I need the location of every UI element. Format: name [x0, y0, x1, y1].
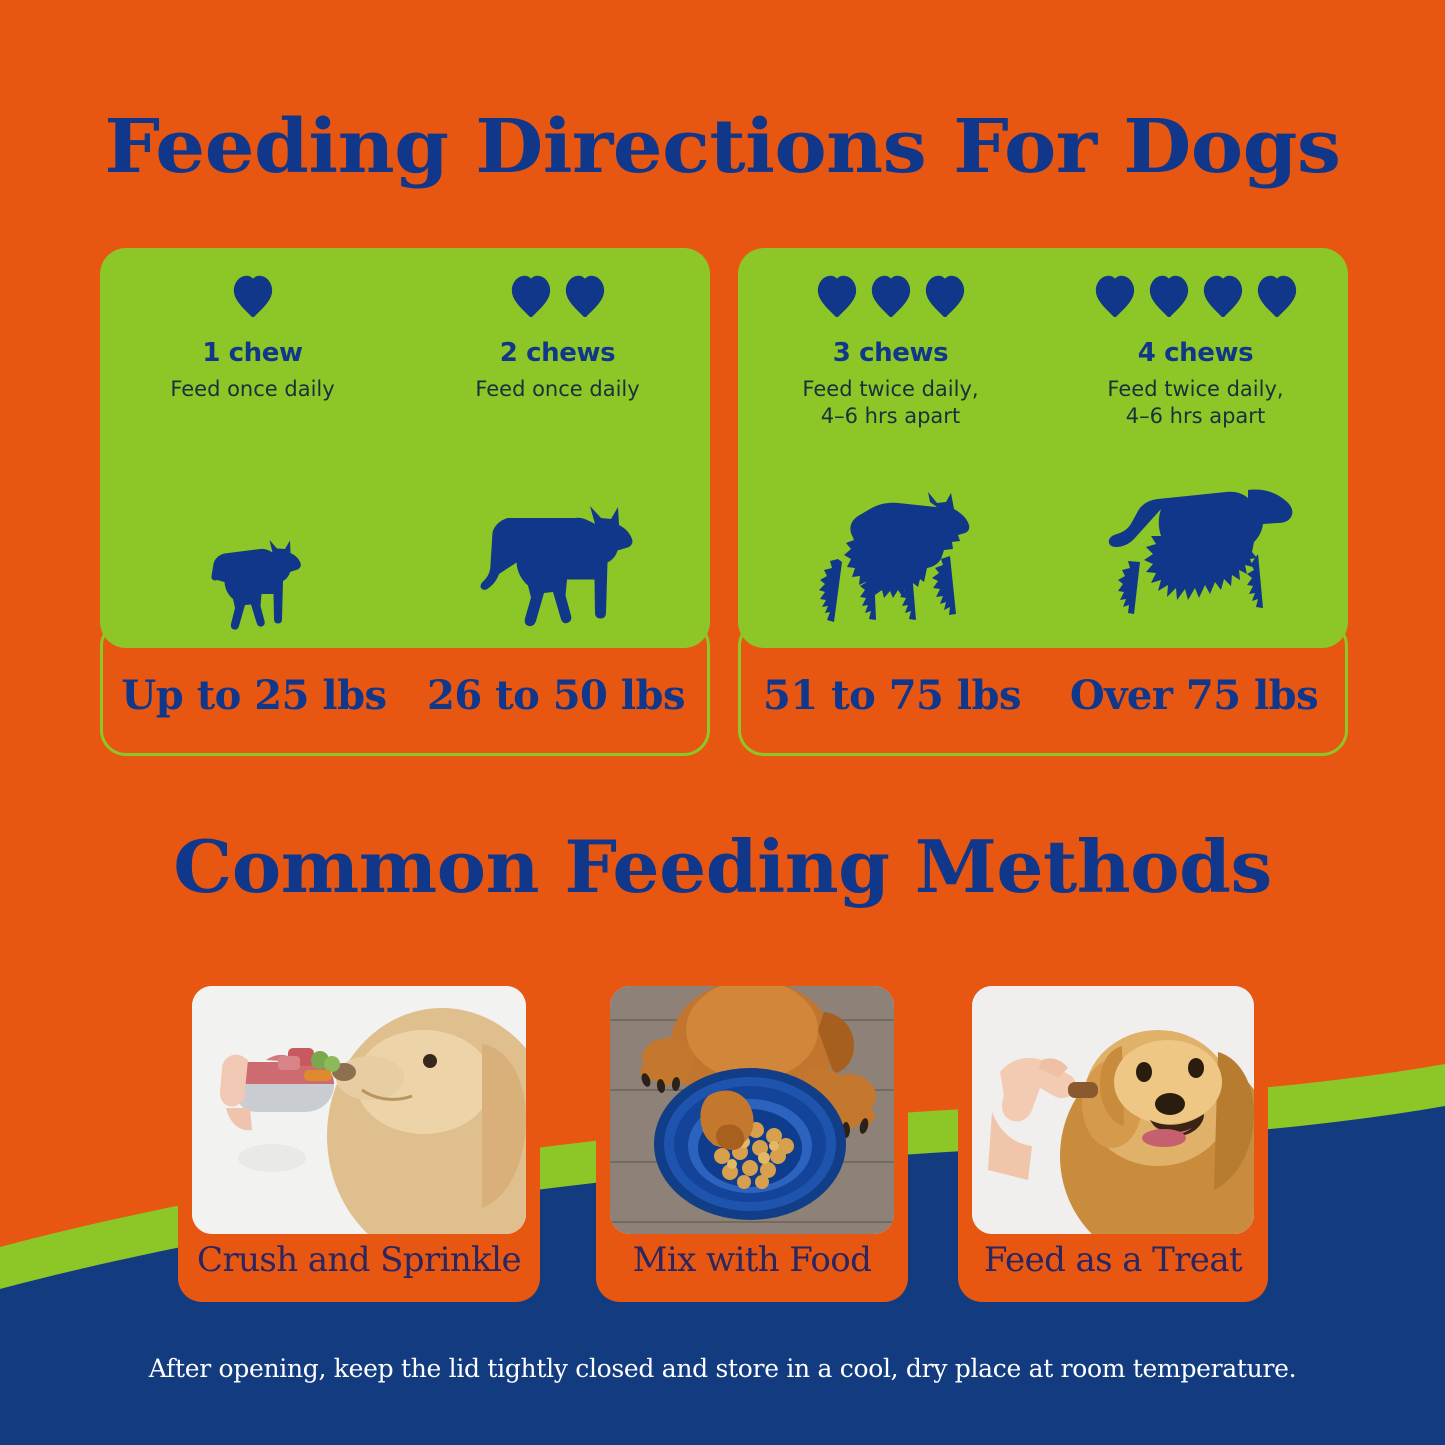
feeding-frequency-3: Feed twice daily, 4–6 hrs apart — [802, 376, 978, 430]
dosage-column-1-chew: 1 chew Feed once daily — [100, 248, 405, 648]
weight-label-26-to-50: 26 to 50 lbs — [405, 658, 707, 719]
chew-count-label-4: 4 chews — [1138, 338, 1253, 368]
dosage-column-4-chews: 4 chews Feed twice daily, 4–6 hrs apart — [1043, 248, 1348, 648]
hand-feeding-golden-retriever-treat-photo — [972, 986, 1254, 1234]
dog-illustration-wrap-3 — [802, 430, 980, 648]
method-label-mix-with-food: Mix with Food — [596, 1240, 908, 1280]
weight-label-51-to-75: 51 to 75 lbs — [741, 658, 1043, 719]
method-card-mix-with-food[interactable]: Mix with Food — [596, 972, 908, 1302]
dog-illustration-wrap-1 — [194, 403, 312, 648]
feeding-frequency-4: Feed twice daily, 4–6 hrs apart — [1107, 376, 1283, 430]
dosage-card-large: 51 to 75 lbs Over 75 lbs 3 chews Feed tw… — [738, 248, 1348, 756]
weight-label-up-to-25: Up to 25 lbs — [103, 658, 405, 719]
heart-rating-2 — [508, 274, 608, 326]
feeding-frequency-4-line2: 4–6 hrs apart — [1107, 403, 1283, 430]
dosage-column-3-chews: 3 chews Feed twice daily, 4–6 hrs apart — [738, 248, 1043, 648]
section-title-common-feeding-methods: Common Feeding Methods — [0, 824, 1445, 909]
heart-icon — [1200, 274, 1246, 318]
dog-illustration-wrap-2 — [475, 403, 641, 648]
feeding-frequency-4-line1: Feed twice daily, — [1107, 376, 1283, 403]
heart-icon — [562, 274, 608, 318]
heart-icon — [1146, 274, 1192, 318]
page-title-feeding-directions: Feeding Directions For Dogs — [0, 104, 1445, 190]
heart-icon — [922, 274, 968, 318]
method-card-crush-and-sprinkle[interactable]: Crush and Sprinkle — [178, 972, 540, 1302]
heart-icon — [230, 274, 276, 318]
heart-icon — [814, 274, 860, 318]
weight-label-over-75: Over 75 lbs — [1043, 658, 1345, 719]
feeding-directions-panel: Feeding Directions For Dogs Up to 25 lbs… — [0, 0, 1445, 1445]
heart-icon — [508, 274, 554, 318]
feeding-frequency-2: Feed once daily — [475, 376, 639, 403]
dosage-column-2-chews: 2 chews Feed once daily — [405, 248, 710, 648]
chew-count-label-2: 2 chews — [500, 338, 615, 368]
method-label-crush-and-sprinkle: Crush and Sprinkle — [178, 1240, 540, 1280]
heart-icon — [868, 274, 914, 318]
heart-rating-3 — [814, 274, 968, 326]
dosage-card-small-medium: Up to 25 lbs 26 to 50 lbs 1 chew Feed on… — [100, 248, 710, 756]
feeding-frequency-3-line1: Feed twice daily, — [802, 376, 978, 403]
feeding-frequency-3-line2: 4–6 hrs apart — [802, 403, 978, 430]
feeding-frequency-1: Feed once daily — [170, 376, 334, 403]
dog-illustration-wrap-4 — [1098, 430, 1294, 648]
storage-instructions-footnote: After opening, keep the lid tightly clos… — [0, 1354, 1445, 1383]
bull-terrier-silhouette-icon — [475, 502, 641, 642]
heart-rating-1 — [230, 274, 276, 326]
chew-count-label-3: 3 chews — [833, 338, 948, 368]
dosage-card-body: 3 chews Feed twice daily, 4–6 hrs apart — [738, 248, 1348, 648]
dosage-card-body: 1 chew Feed once daily 2 chews Feed once… — [100, 248, 710, 648]
heart-rating-4 — [1092, 274, 1300, 326]
method-card-feed-as-a-treat[interactable]: Feed as a Treat — [958, 972, 1268, 1302]
dog-eating-kibble-from-blue-bowl-photo — [610, 986, 894, 1234]
schnauzer-silhouette-icon — [802, 492, 980, 642]
heart-icon — [1092, 274, 1138, 318]
chew-count-label-1: 1 chew — [202, 338, 302, 368]
dog-sniffing-bowl-of-food-photo — [192, 986, 526, 1234]
golden-retriever-silhouette-icon — [1098, 482, 1294, 642]
heart-icon — [1254, 274, 1300, 318]
boston-terrier-silhouette-icon — [194, 536, 312, 642]
method-label-feed-as-a-treat: Feed as a Treat — [958, 1240, 1268, 1280]
